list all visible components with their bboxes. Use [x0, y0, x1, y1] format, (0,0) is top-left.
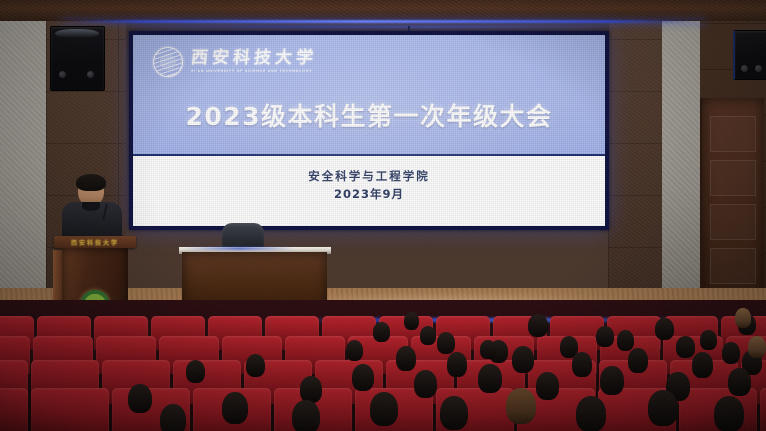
audience-head — [722, 342, 740, 364]
audience-head — [246, 354, 265, 377]
audience-head — [437, 332, 455, 354]
audience-head — [447, 352, 467, 377]
slide-title: 2023级本科生第一次年级大会 — [133, 97, 605, 133]
audience-head — [352, 364, 374, 391]
audience-head — [300, 376, 322, 403]
audience-head — [600, 366, 624, 395]
audience-head — [478, 364, 502, 393]
presenter-person — [62, 176, 122, 244]
logo-chinese-name: 西安科技大学 — [190, 50, 318, 67]
audience-head — [404, 312, 419, 330]
audience-head — [692, 352, 713, 378]
audience-head — [714, 396, 744, 431]
slide-logo: 西安科技大学 XI'AN UNIVERSITY OF SCIENCE AND T… — [153, 47, 317, 77]
audience-head — [186, 360, 205, 383]
audience-head — [648, 390, 678, 426]
auditorium-photo: 西安科技大学 XI'AN UNIVERSITY OF SCIENCE AND T… — [0, 0, 766, 431]
audience-head — [420, 326, 436, 345]
audience-seat — [760, 388, 766, 431]
audience-head — [440, 396, 468, 430]
led-strip-light-secondary — [128, 26, 638, 28]
audience-head — [536, 372, 559, 400]
side-door[interactable] — [700, 98, 764, 300]
audience-head — [655, 318, 674, 340]
wood-ceiling-beam — [0, 0, 766, 21]
pillar-left — [0, 18, 46, 300]
audience-seat — [31, 388, 109, 431]
podium-banner-text: 西安科技大学 — [61, 238, 129, 247]
led-strip-light — [60, 20, 706, 23]
podium-top: 西安科技大学 — [54, 236, 136, 248]
slide-subtitle: 安全科学与工程学院 2023年9月 — [133, 168, 605, 204]
audience-head — [506, 388, 536, 424]
audience-head — [480, 340, 496, 359]
audience-head — [512, 346, 534, 373]
wall-panel-right — [608, 18, 664, 300]
audience-head — [292, 400, 320, 431]
audience-head — [676, 336, 695, 358]
audience-head — [370, 392, 398, 426]
audience-area — [0, 300, 766, 431]
audience-head — [414, 370, 437, 398]
audience-head — [728, 368, 751, 396]
university-seal-icon — [153, 47, 183, 77]
audience-seat — [0, 388, 28, 431]
audience-head — [160, 404, 186, 431]
audience-head — [373, 322, 390, 342]
audience-head — [222, 392, 248, 424]
pillar-right — [662, 18, 700, 300]
logo-english-name: XI'AN UNIVERSITY OF SCIENCE AND TECHNOLO… — [191, 70, 317, 74]
slide-subtitle-line2: 2023年9月 — [133, 186, 605, 204]
audience-head — [346, 340, 363, 361]
audience-head — [528, 314, 548, 337]
audience-head — [596, 326, 614, 347]
wall-speaker-left — [50, 26, 105, 91]
audience-head — [700, 330, 717, 350]
slide-subtitle-line1: 安全科学与工程学院 — [133, 168, 605, 186]
audience-head — [572, 352, 592, 377]
audience-head — [576, 396, 606, 431]
audience-head — [128, 384, 152, 413]
presenter-hair — [76, 174, 106, 191]
audience-head — [617, 330, 634, 351]
audience-head-side — [748, 336, 766, 358]
wall-speaker-right — [733, 30, 766, 80]
audience-head — [628, 348, 648, 373]
projection-screen: 西安科技大学 XI'AN UNIVERSITY OF SCIENCE AND T… — [129, 31, 609, 230]
audience-head-side — [735, 308, 751, 328]
audience-head — [396, 346, 416, 371]
